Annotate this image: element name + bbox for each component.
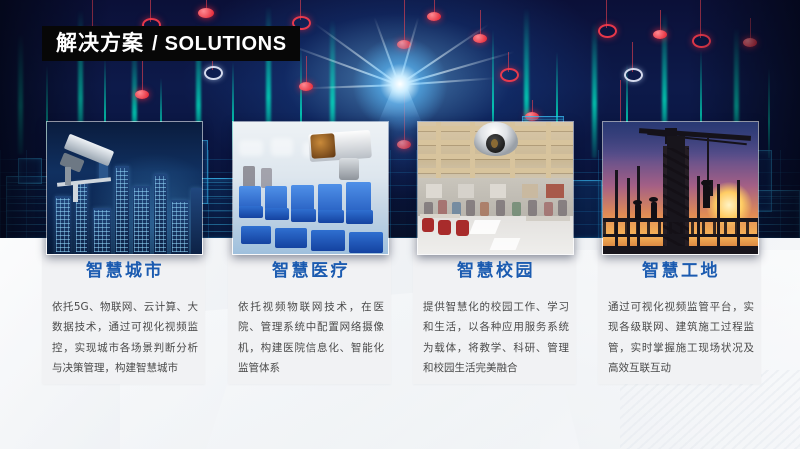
card-heading: 智慧医疗 <box>238 256 384 281</box>
solution-card[interactable]: 智慧工地 通过可视化视频监管平台，实现各级联网、建筑施工过程监管，实时掌握施工现… <box>598 121 761 384</box>
card-heading: 智慧工地 <box>608 256 754 281</box>
card-body: 提供智慧化的校园工作、学习和生活，以各种应用服务系统为载体，将教学、科研、管理和… <box>423 297 569 379</box>
card-thumbnail-smart-healthcare[interactable] <box>232 121 389 255</box>
card-text: 智慧校园 提供智慧化的校园工作、学习和生活，以各种应用服务系统为载体，将教学、科… <box>423 256 569 379</box>
card-body: 依托视频物联网技术，在医院、管理系统中配置网络摄像机，构建医院信息化、智能化监管… <box>238 297 384 379</box>
card-heading: 智慧城市 <box>52 256 198 281</box>
night-city-surveillance-camera-photo <box>47 122 202 254</box>
card-body: 依托5G、物联网、云计算、大数据技术，通过可视化视频监控，实现城市各场景判断分析… <box>52 297 198 379</box>
card-body: 通过可视化视频监管平台，实现各级联网、建筑施工过程监管，实时掌握施工现场状况及高… <box>608 297 754 379</box>
card-thumbnail-smart-city[interactable] <box>46 121 203 255</box>
school-canteen-dome-camera-photo <box>418 122 573 254</box>
card-thumbnail-smart-campus[interactable] <box>417 121 574 255</box>
slide-root: 解决方案 / SOLUTIONS <box>0 0 800 449</box>
card-text: 智慧城市 依托5G、物联网、云计算、大数据技术，通过可视化视频监控，实现城市各场… <box>52 256 198 379</box>
card-heading: 智慧校园 <box>423 256 569 281</box>
card-text: 智慧医疗 依托视频物联网技术，在医院、管理系统中配置网络摄像机，构建医院信息化、… <box>238 256 384 379</box>
solution-card[interactable]: 智慧医疗 依托视频物联网技术，在医院、管理系统中配置网络摄像机，构建医院信息化、… <box>228 121 391 384</box>
solution-card[interactable]: 智慧城市 依托5G、物联网、云计算、大数据技术，通过可视化视频监控，实现城市各场… <box>42 121 205 384</box>
construction-site-crane-sunset-photo <box>603 122 758 254</box>
card-text: 智慧工地 通过可视化视频监管平台，实现各级联网、建筑施工过程监管，实时掌握施工现… <box>608 256 754 379</box>
card-thumbnail-smart-construction[interactable] <box>602 121 759 255</box>
solution-card-list: 智慧城市 依托5G、物联网、云计算、大数据技术，通过可视化视频监控，实现城市各场… <box>0 0 800 449</box>
solution-card[interactable]: 智慧校园 提供智慧化的校园工作、学习和生活，以各种应用服务系统为载体，将教学、科… <box>413 121 576 384</box>
hospital-waiting-room-camera-photo <box>233 122 388 254</box>
